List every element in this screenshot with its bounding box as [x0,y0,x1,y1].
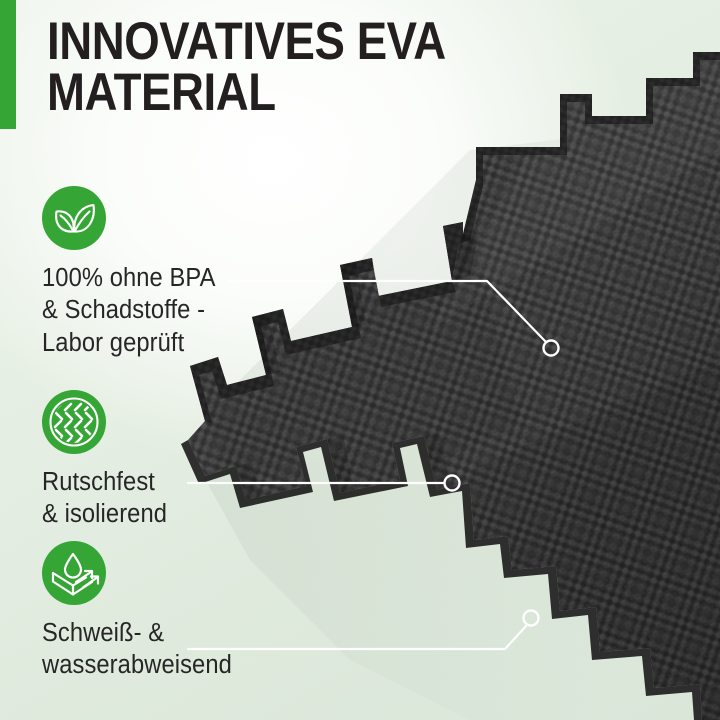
leaves-icon [42,186,106,250]
anti-slip-tread-icon [42,390,106,454]
feature-label-antislip: Rutschfest & isolierend [42,466,284,531]
feature-label-waterproof: Schweiß- & wasserabweisend [42,617,284,682]
feature-item-waterproof: Schweiß- & wasserabweisend [42,541,302,682]
accent-bar [0,0,16,129]
feature-item-bpa: 100% ohne BPA & Schadstoffe - Labor gepr… [42,186,302,359]
page-title: INNOVATIVES EVA MATERIAL [47,17,529,119]
infographic-page: INNOVATIVES EVA MATERIAL [0,0,720,720]
feature-label-bpa: 100% ohne BPA & Schadstoffe - Labor gepr… [42,262,284,359]
water-repellent-icon [42,541,106,605]
feature-item-antislip: Rutschfest & isolierend [42,390,302,531]
